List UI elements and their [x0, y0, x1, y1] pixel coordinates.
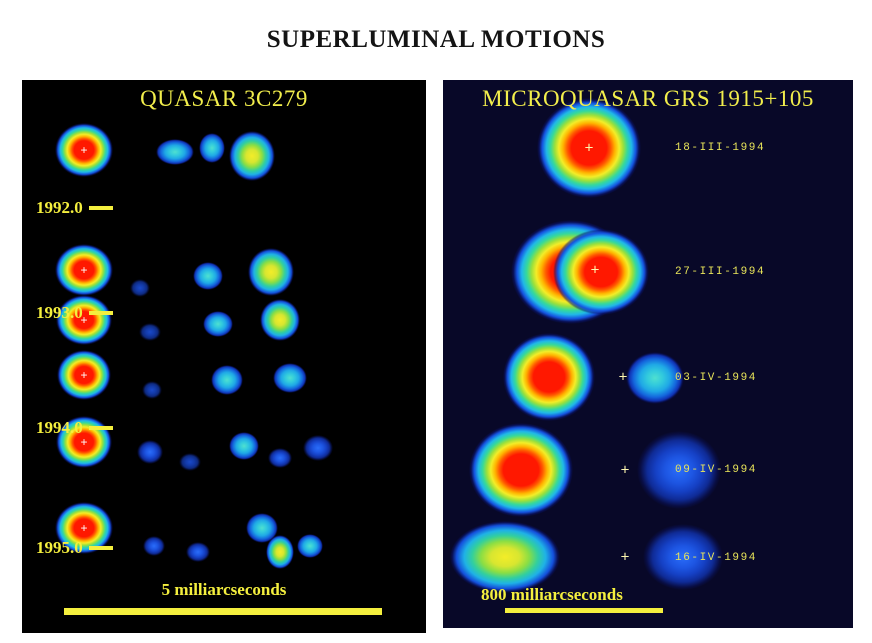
approaching-jet — [469, 423, 573, 517]
faint-component — [137, 440, 163, 464]
year-label-text: 1995.0 — [36, 538, 83, 557]
faint-component — [186, 542, 210, 562]
panel-quasar-3c279: QUASAR 3C279 + + + + + + — [22, 80, 426, 633]
year-label-1992: 1992.0 — [36, 198, 113, 218]
date-label-5: 16-IV-1994 — [675, 552, 757, 564]
source-core — [57, 350, 111, 400]
jet-component — [211, 365, 243, 395]
year-label-text: 1992.0 — [36, 198, 83, 217]
core-marker-icon: + — [621, 463, 630, 478]
approaching-jet — [450, 521, 560, 593]
jet-component — [297, 534, 323, 558]
year-tick-icon — [89, 546, 113, 550]
figure-title: SUPERLUMINAL MOTIONS — [0, 26, 872, 54]
date-label-1: 18-III-1994 — [675, 142, 765, 154]
jet-component — [266, 535, 294, 569]
jet-component — [246, 513, 278, 543]
jet-component — [273, 363, 307, 393]
jet-component — [229, 131, 275, 181]
date-label-3: 03-IV-1994 — [675, 372, 757, 384]
jet-component — [553, 229, 649, 315]
year-label-1993: 1993.0 — [36, 303, 113, 323]
year-label-1994: 1994.0 — [36, 418, 113, 438]
core-marker-icon: + — [80, 264, 87, 276]
core-marker-icon: + — [80, 144, 87, 156]
source-core — [537, 98, 641, 198]
core-marker-icon: + — [591, 263, 600, 278]
year-tick-icon — [89, 426, 113, 430]
year-tick-icon — [89, 311, 113, 315]
year-label-1995: 1995.0 — [36, 538, 113, 558]
date-label-2: 27-III-1994 — [675, 266, 765, 278]
faint-component — [179, 453, 201, 471]
approaching-jet — [503, 333, 595, 421]
scale-bar-right — [505, 608, 663, 613]
scale-label-left: 5 milliarcseconds — [22, 580, 426, 600]
jet-component — [260, 299, 300, 341]
year-label-text: 1994.0 — [36, 418, 83, 437]
year-tick-icon — [89, 206, 113, 210]
jet-component — [199, 133, 225, 163]
core-marker-icon: + — [585, 141, 594, 156]
jet-component — [303, 435, 333, 461]
core-marker-icon: + — [80, 369, 87, 381]
panel-left-title: QUASAR 3C279 — [22, 86, 426, 112]
faint-component — [142, 381, 162, 399]
scale-label-right: 800 milliarcseconds — [481, 585, 623, 605]
faint-component — [143, 536, 165, 556]
faint-component — [130, 279, 150, 297]
superluminal-motions-figure: SUPERLUMINAL MOTIONS QUASAR 3C279 + + + … — [0, 0, 872, 643]
jet-component — [203, 311, 233, 337]
faint-component — [268, 448, 292, 468]
year-label-text: 1993.0 — [36, 303, 83, 322]
core-marker-icon: + — [80, 522, 87, 534]
date-label-4: 09-IV-1994 — [675, 464, 757, 476]
faint-component — [139, 323, 161, 341]
jet-component — [229, 432, 259, 460]
jet-component — [193, 262, 223, 290]
jet-component — [156, 139, 194, 165]
core-marker-icon: + — [621, 550, 630, 565]
source-core — [511, 220, 631, 324]
scale-bar-left — [64, 608, 382, 615]
core-marker-icon: + — [619, 370, 628, 385]
panel-right-title: MICROQUASAR GRS 1915+105 — [443, 86, 853, 112]
panel-microquasar-grs1915: MICROQUASAR GRS 1915+105 + + + + + 18-II… — [443, 80, 853, 628]
jet-component — [248, 248, 294, 296]
source-core — [55, 123, 113, 177]
source-core — [55, 244, 113, 296]
